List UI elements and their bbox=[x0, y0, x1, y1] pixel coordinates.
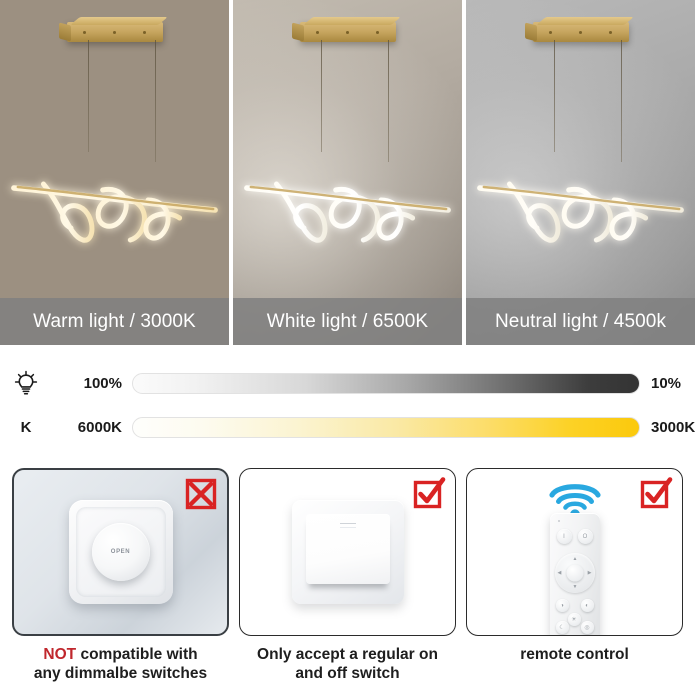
caption-line-1: Only accept a regular on bbox=[257, 646, 438, 663]
kelvin-letter: K bbox=[21, 419, 32, 436]
remote-dpad[interactable]: ▲ ◀ ▶ ▼ bbox=[555, 553, 595, 593]
suspension-wire bbox=[388, 40, 389, 162]
brightness-min-label: 10% bbox=[640, 375, 681, 392]
caption-negation: NOT bbox=[43, 646, 76, 663]
suspension-wire bbox=[554, 40, 555, 152]
remote-power-off-button[interactable]: O bbox=[578, 529, 593, 544]
room-scene-neutral bbox=[466, 0, 695, 345]
suspension-wire bbox=[88, 40, 89, 152]
remote-brightness-up-button[interactable]: ◐ bbox=[581, 599, 594, 612]
kelvin-gradient-bar[interactable] bbox=[132, 417, 640, 438]
power-on-label: I bbox=[563, 534, 565, 540]
dimming-scales: 100% 10% K 6000K 3000K bbox=[0, 352, 695, 460]
wifi-signal-icon bbox=[544, 475, 606, 515]
led-pendant-lamp bbox=[0, 148, 229, 268]
panel-caption: Warm light / 3000K bbox=[0, 298, 229, 345]
light-bulb-icon bbox=[0, 369, 52, 397]
photo-panel-neutral[interactable]: Neutral light / 4500k bbox=[466, 0, 695, 345]
remote-bulb-button[interactable]: ☀ bbox=[568, 613, 581, 626]
card-regular-switch[interactable]: Only accept a regular on and off switch bbox=[239, 468, 456, 690]
remote-body: I O ▲ ◀ ▶ ▼ ◑ ◐ ☀ ☾ ◎ bbox=[550, 513, 600, 636]
card-caption-dimmer: NOT compatible with any dimmalbe switche… bbox=[34, 646, 207, 684]
light-temperature-gallery: Warm light / 3000K bbox=[0, 0, 695, 345]
brightness-max-label: 100% bbox=[52, 375, 132, 392]
color-temperature-scale-row: K 6000K 3000K bbox=[0, 410, 695, 444]
suspension-wire bbox=[321, 40, 322, 152]
photo-panel-white[interactable]: White light / 6500K bbox=[233, 0, 462, 345]
red-x-icon bbox=[184, 477, 218, 511]
kelvin-cool-label: 6000K bbox=[52, 419, 132, 436]
caption-text: Neutral light / 4500k bbox=[495, 311, 666, 333]
card-caption-remote: remote control bbox=[520, 646, 629, 665]
caption-line-1: remote control bbox=[520, 646, 629, 663]
caption-line-2: and off switch bbox=[295, 665, 399, 682]
card-remote-control[interactable]: I O ▲ ◀ ▶ ▼ ◑ ◐ ☀ ☾ ◎ bbox=[466, 468, 683, 690]
ceiling-canopy bbox=[533, 22, 629, 42]
dimmer-knob-label: OPEN bbox=[111, 549, 130, 555]
brightness-gradient-bar[interactable] bbox=[132, 373, 640, 394]
compatibility-cards: OPEN NOT compatible with any dimmalbe sw… bbox=[0, 468, 695, 690]
panel-caption: Neutral light / 4500k bbox=[466, 298, 695, 345]
red-check-icon bbox=[412, 476, 446, 510]
photo-panel-warm[interactable]: Warm light / 3000K bbox=[0, 0, 229, 345]
card-caption-regular-switch: Only accept a regular on and off switch bbox=[257, 646, 438, 684]
brightness-scale-row: 100% 10% bbox=[0, 366, 695, 400]
led-pendant-lamp bbox=[466, 148, 695, 268]
dimmer-wall-plate: OPEN bbox=[69, 500, 173, 604]
caption-text: White light / 6500K bbox=[267, 311, 428, 333]
suspension-wire bbox=[621, 40, 622, 162]
card-dimmer-switch[interactable]: OPEN NOT compatible with any dimmalbe sw… bbox=[12, 468, 229, 690]
product-infographic: Warm light / 3000K bbox=[0, 0, 695, 690]
led-pendant-lamp bbox=[233, 148, 462, 268]
kelvin-icon: K bbox=[0, 419, 52, 436]
ceiling-canopy bbox=[300, 22, 396, 42]
panel-caption: White light / 6500K bbox=[233, 298, 462, 345]
caption-line-2: any dimmalbe switches bbox=[34, 665, 207, 682]
dimmer-knob[interactable]: OPEN bbox=[92, 523, 150, 581]
remote-power-on-button[interactable]: I bbox=[557, 529, 572, 544]
regular-switch-image bbox=[239, 468, 456, 636]
power-off-label: O bbox=[583, 534, 588, 540]
remote-control-image: I O ▲ ◀ ▶ ▼ ◑ ◐ ☀ ☾ ◎ bbox=[466, 468, 683, 636]
room-scene-white bbox=[233, 0, 462, 345]
remote-brightness-down-button[interactable]: ◑ bbox=[556, 599, 569, 612]
kelvin-warm-label: 3000K bbox=[640, 419, 695, 436]
remote-timer-button[interactable]: ◎ bbox=[581, 621, 594, 634]
remote-ok-button[interactable] bbox=[566, 565, 583, 582]
suspension-wire bbox=[155, 40, 156, 162]
rocker-wall-plate bbox=[292, 500, 404, 604]
ceiling-canopy bbox=[67, 22, 163, 42]
caption-rest: compatible with bbox=[76, 646, 197, 663]
red-check-icon bbox=[639, 476, 673, 510]
dimmer-switch-image: OPEN bbox=[12, 468, 229, 636]
remote-night-mode-button[interactable]: ☾ bbox=[556, 621, 569, 634]
room-scene-warm bbox=[0, 0, 229, 345]
caption-text: Warm light / 3000K bbox=[33, 311, 196, 333]
rocker-paddle[interactable] bbox=[306, 514, 390, 584]
